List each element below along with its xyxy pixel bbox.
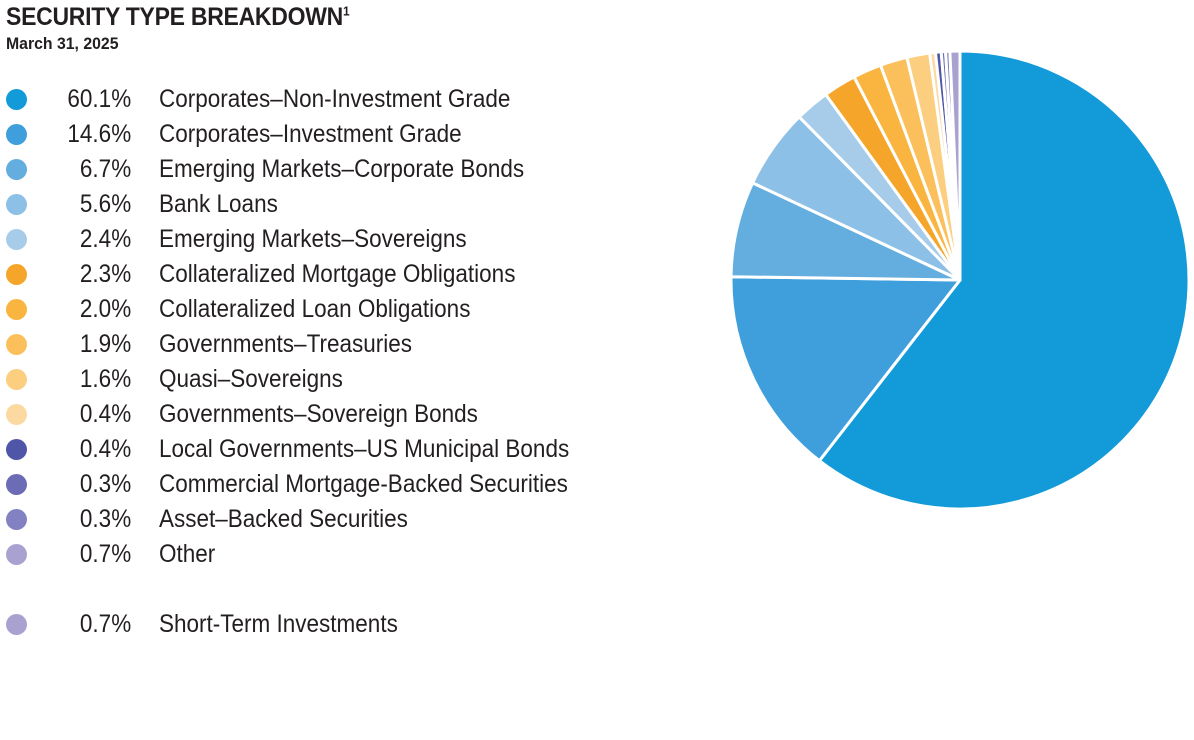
legend-label: Asset–Backed Securities [159,507,408,532]
legend-label: Local Governments–US Municipal Bonds [159,437,569,462]
chart-subtitle: March 31, 2025 [6,34,657,54]
legend-percent: 14.6% [48,122,133,147]
legend-percent: 0.4% [48,402,133,427]
legend-color-dot-icon [6,334,27,355]
legend-percent: 0.7% [48,542,133,567]
legend-label: Corporates–Investment Grade [159,122,462,147]
legend-color-dot-icon [6,614,27,635]
legend-item: 1.9%Governments–Treasuries [6,327,726,362]
legend-percent: 0.3% [48,472,133,497]
legend-label: Emerging Markets–Corporate Bonds [159,157,524,182]
legend-item: 2.4%Emerging Markets–Sovereigns [6,222,726,257]
legend-color-dot-icon [6,159,27,180]
legend-color-dot-icon [6,404,27,425]
legend-percent: 2.3% [48,262,133,287]
legend-label: Quasi–Sovereigns [159,367,343,392]
legend-item: 0.7%Other [6,537,726,572]
legend-label: Emerging Markets–Sovereigns [159,227,467,252]
page-title: SECURITY TYPE BREAKDOWN1 [6,4,650,30]
legend-item: 0.3%Commercial Mortgage-Backed Securitie… [6,467,726,502]
legend-item: 1.6%Quasi–Sovereigns [6,362,726,397]
legend-percent: 60.1% [48,87,133,112]
legend-color-dot-icon [6,124,27,145]
legend-item: 6.7%Emerging Markets–Corporate Bonds [6,152,726,187]
legend-label: Other [159,542,215,567]
legend-color-dot-icon [6,509,27,530]
legend-percent: 2.4% [48,227,133,252]
title-footnote-marker: 1 [343,4,349,19]
pie-chart-svg [723,43,1194,517]
legend-label: Short-Term Investments [159,612,398,637]
legend-color-dot-icon [6,194,27,215]
legend-percent: 6.7% [48,157,133,182]
legend-label: Commercial Mortgage-Backed Securities [159,472,568,497]
legend-item: 5.6%Bank Loans [6,187,726,222]
legend-percent: 0.7% [48,612,133,637]
legend-percent: 1.6% [48,367,133,392]
legend-item: 0.3%Asset–Backed Securities [6,502,726,537]
legend-percent: 0.4% [48,437,133,462]
legend-item: 0.7%Short-Term Investments [6,607,726,642]
legend-item: 2.0%Collateralized Loan Obligations [6,292,726,327]
chart-header: SECURITY TYPE BREAKDOWN1 March 31, 2025 [6,4,706,54]
legend-color-dot-icon [6,544,27,565]
legend-item: 0.4%Local Governments–US Municipal Bonds [6,432,726,467]
legend-color-dot-icon [6,369,27,390]
legend-label: Corporates–Non-Investment Grade [159,87,510,112]
legend-item: 0.4%Governments–Sovereign Bonds [6,397,726,432]
legend-color-dot-icon [6,439,27,460]
legend-color-dot-icon [6,474,27,495]
pie-chart [723,43,1194,517]
legend-color-dot-icon [6,264,27,285]
page-title-text: SECURITY TYPE BREAKDOWN [6,3,343,31]
legend-label: Governments–Treasuries [159,332,412,357]
legend-label: Bank Loans [159,192,278,217]
legend-percent: 1.9% [48,332,133,357]
legend-label: Governments–Sovereign Bonds [159,402,478,427]
chart-legend: 60.1%Corporates–Non-Investment Grade14.6… [6,82,726,642]
legend-item: 2.3%Collateralized Mortgage Obligations [6,257,726,292]
legend-color-dot-icon [6,89,27,110]
legend-label: Collateralized Loan Obligations [159,297,470,322]
legend-item: 60.1%Corporates–Non-Investment Grade [6,82,726,117]
legend-percent: 0.3% [48,507,133,532]
legend-item: 14.6%Corporates–Investment Grade [6,117,726,152]
legend-color-dot-icon [6,299,27,320]
legend-percent: 5.6% [48,192,133,217]
legend-color-dot-icon [6,229,27,250]
legend-percent: 2.0% [48,297,133,322]
legend-label: Collateralized Mortgage Obligations [159,262,515,287]
